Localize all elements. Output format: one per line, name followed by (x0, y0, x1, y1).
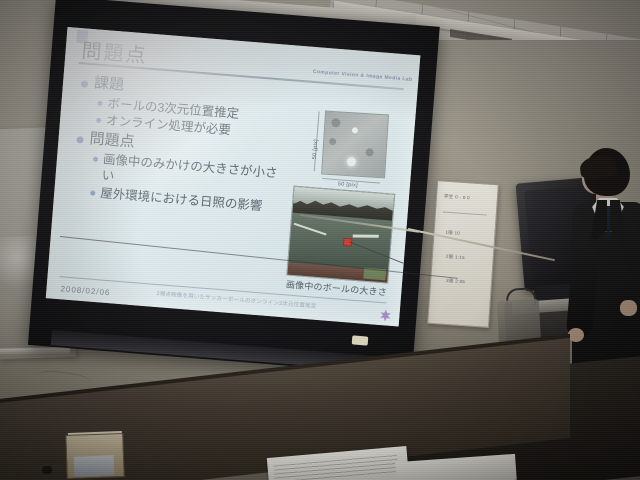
slide-date: 2008/02/06 (60, 284, 111, 297)
bullet-dot-icon (96, 118, 101, 123)
whiteboard-divider (443, 211, 487, 215)
ball-patch-image (321, 111, 389, 179)
ball-highlight (347, 157, 357, 167)
university-logo-mark (379, 309, 392, 322)
bullet-text: 問題点 (89, 130, 135, 152)
patch-x-axis-label: 50 [pix] (338, 181, 359, 189)
whiteboard-note: 3限 2:05 (446, 278, 465, 285)
bullet-dot-icon (76, 136, 84, 144)
zoomed-ball-patch-figure: 50 [pix] 50 [pix] (301, 107, 393, 196)
hand-right (620, 300, 637, 316)
whiteboard-with-handwriting: 学生 0 - 0 0 1限 10 2限 1:15 3限 2:05 (427, 180, 499, 328)
hand-left (568, 328, 584, 342)
handout-text-lines (273, 455, 398, 480)
whiteboard-note: 学生 0 - 0 0 (444, 194, 470, 202)
bullet-dot-icon (97, 100, 102, 105)
tissue-sheet (74, 455, 115, 476)
table-knob (42, 466, 52, 474)
soccer-field-figure: 画像中のボールの大きさ (285, 186, 397, 302)
screen-pull-tab (352, 335, 369, 345)
photo-scene: 学生 0 - 0 0 1限 10 2限 1:15 3限 2:05 問題点 Com… (0, 0, 640, 480)
patch-blob (329, 138, 336, 145)
bullet-dot-icon (81, 80, 89, 88)
patch-blob (365, 148, 373, 156)
lab-logo-text: Computer Vision & Image Media Lab (313, 69, 413, 83)
whiteboard-note: 2限 1:15 (446, 254, 465, 261)
field-goal-area (353, 234, 379, 237)
presenter (566, 148, 640, 368)
bullet-dot-icon (90, 190, 95, 195)
bullet-text: 課題 (93, 74, 124, 95)
projection-screen: 問題点 Computer Vision & Image Media Lab 課題… (28, 0, 440, 376)
bullet-dot-icon (93, 157, 98, 162)
projected-slide: 問題点 Computer Vision & Image Media Lab 課題… (46, 27, 421, 327)
patch-y-axis-label: 50 [pix] (312, 139, 320, 160)
patch-blob (331, 118, 341, 128)
patch-highlight (352, 127, 358, 133)
slide-bullet-list: 課題 ボールの3次元位置推定 オンライン処理が必要 問題点 画像中のみかけの大き… (72, 70, 297, 217)
